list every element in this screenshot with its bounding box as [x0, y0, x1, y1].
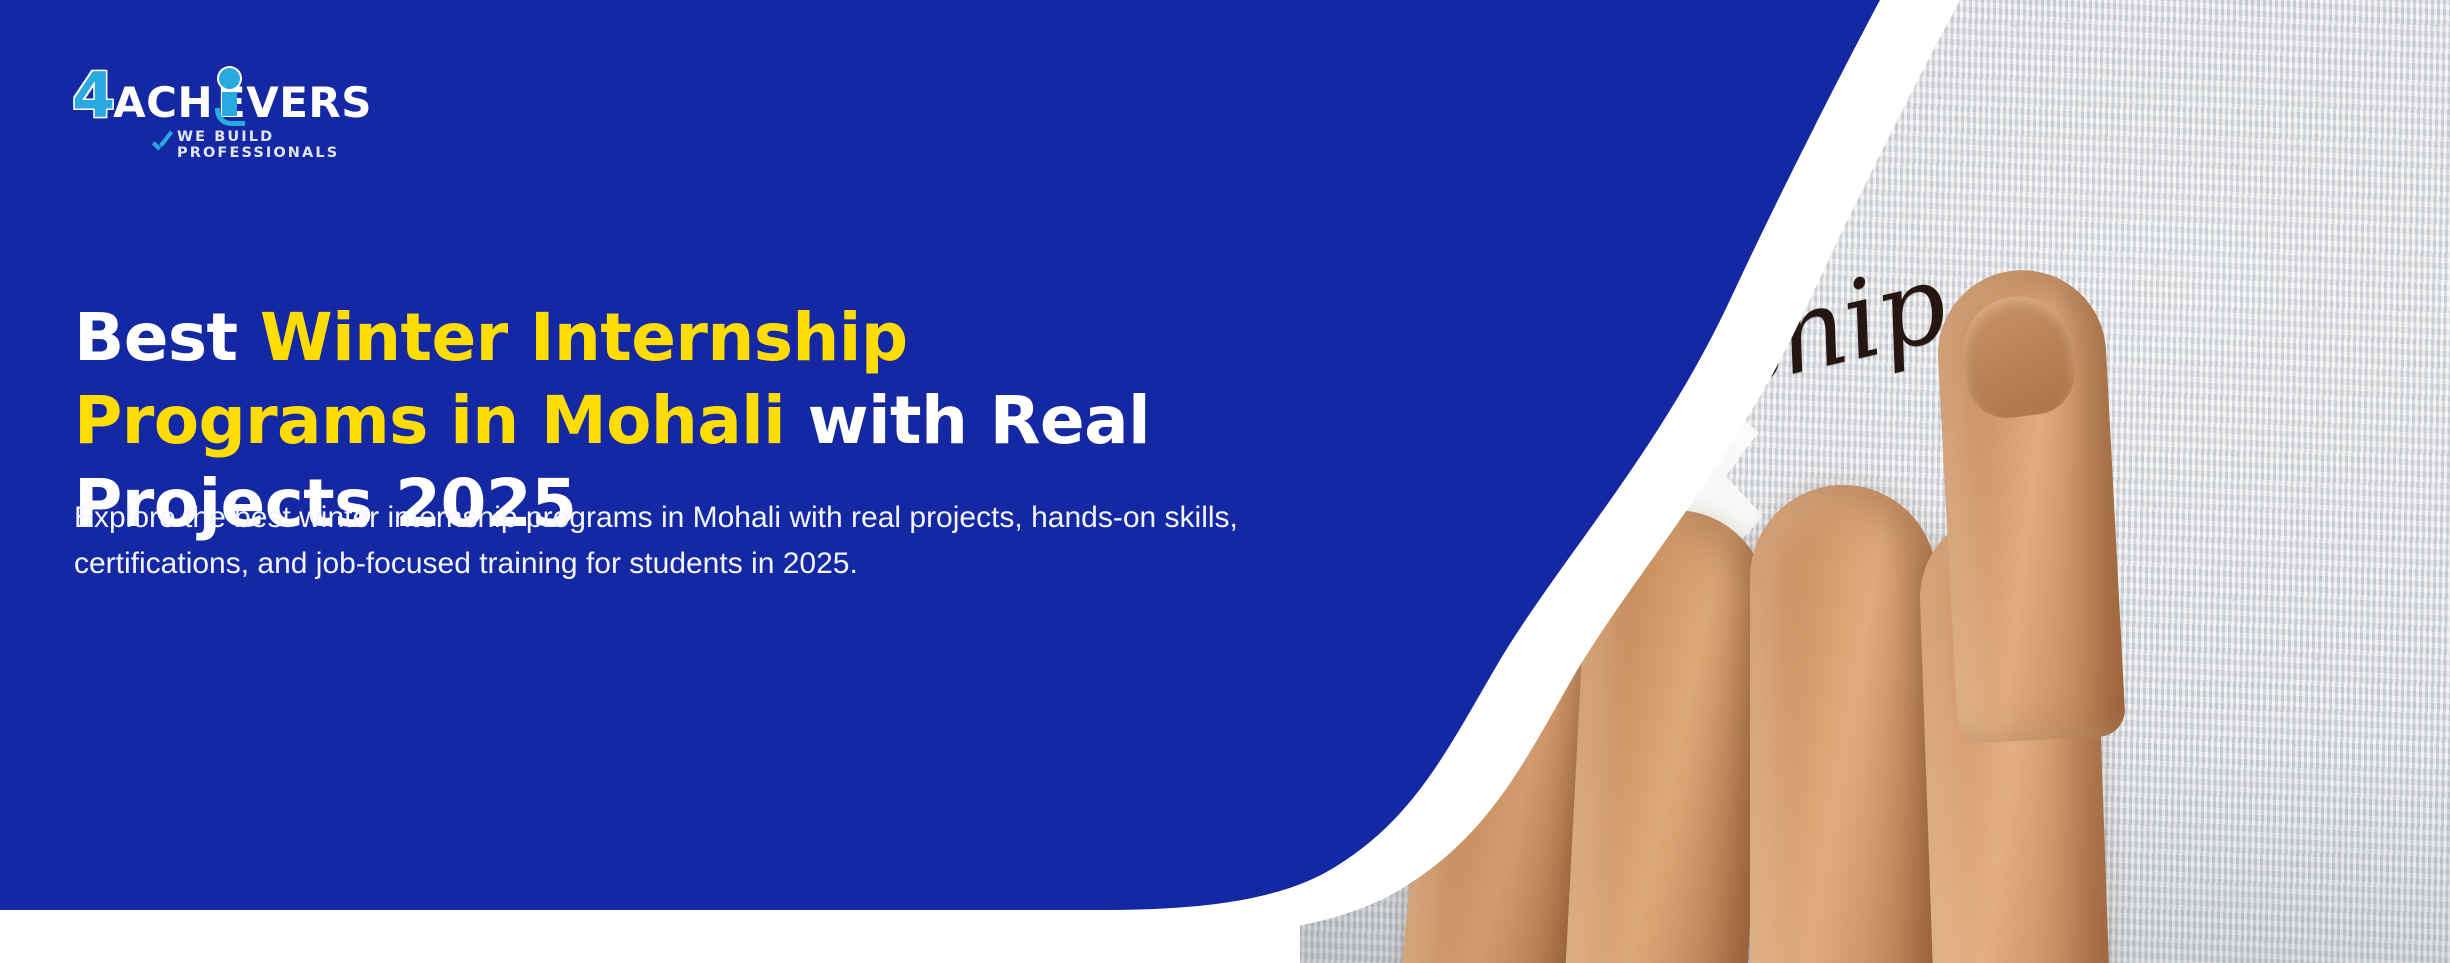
- hero-subtext: Explore the best winter internship progr…: [74, 495, 1254, 586]
- check-icon: [150, 134, 169, 156]
- index-finger: [1934, 266, 2126, 744]
- logo-number-4: 4: [72, 69, 115, 124]
- logo-i-dot: [219, 68, 240, 89]
- logo-tagline: We Build Professionals: [177, 129, 372, 161]
- logo-tagline-row: We Build Professionals: [150, 129, 372, 161]
- logo-wordmark: 4 ACH EVERS: [72, 68, 372, 124]
- headline-part-white-1: Best: [74, 299, 260, 376]
- logo-text-ach: ACH: [113, 82, 213, 124]
- finger-middle: [1750, 485, 1936, 963]
- fingernail: [1957, 290, 2079, 422]
- hero-banner: internship 4 ACH EVERS: [0, 0, 2450, 963]
- logo-i-person-icon: [213, 72, 219, 124]
- brand-logo[interactable]: 4 ACH EVERS We Build Professionals: [72, 68, 372, 156]
- hero-content: 4 ACH EVERS We Build Professionals Best …: [0, 0, 1300, 963]
